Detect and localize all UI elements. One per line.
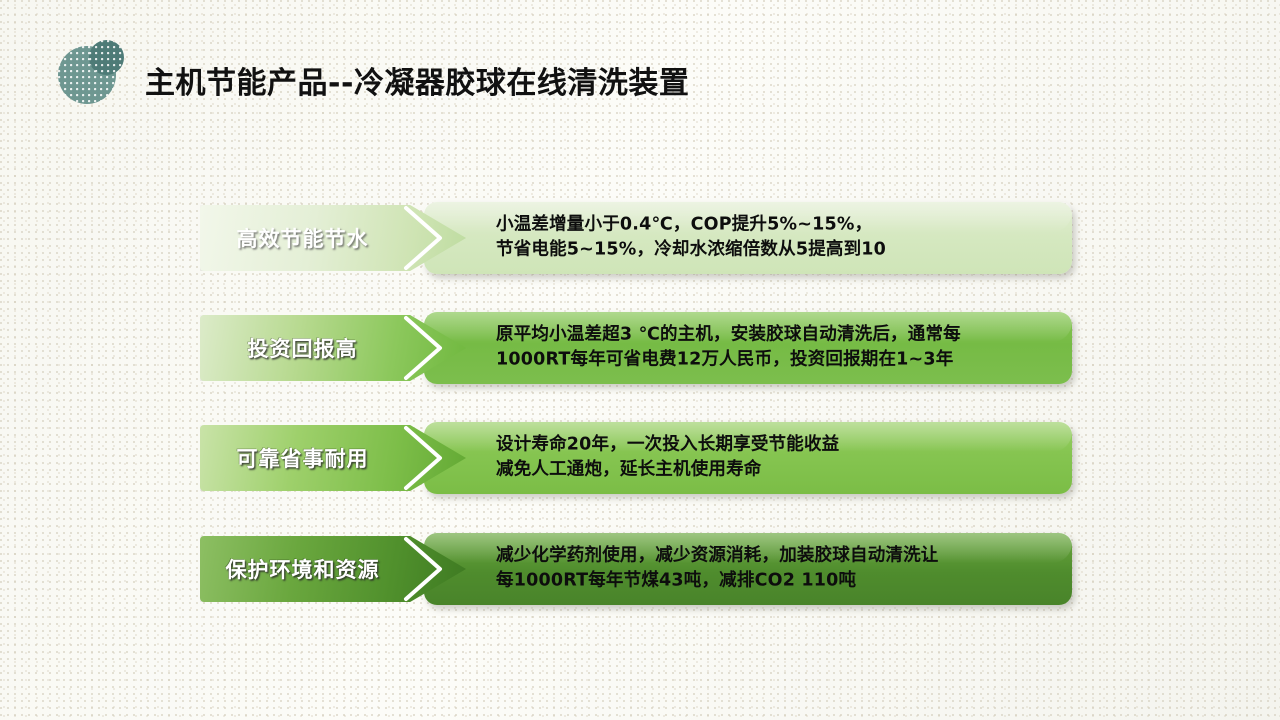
circle-small-icon [89, 40, 124, 75]
feature-label-text: 可靠省事耐用 [200, 443, 405, 473]
feature-label-arrow[interactable]: 高效节能节水 [200, 205, 466, 271]
feature-description-text: 设计寿命20年，一次投入长期享受节能收益 减免人工通炮，延长主机使用寿命 [496, 433, 1054, 484]
feature-label-text: 高效节能节水 [200, 223, 405, 253]
feature-description-bar: 减少化学药剂使用，减少资源消耗，加装胶球自动清洗让 每1000RT每年节煤43吨… [424, 533, 1072, 605]
feature-label-text: 投资回报高 [200, 333, 405, 363]
decorative-circles [58, 40, 136, 108]
feature-description-text: 减少化学药剂使用，减少资源消耗，加装胶球自动清洗让 每1000RT每年节煤43吨… [496, 544, 1054, 595]
feature-row: 小温差增量小于0.4℃，COP提升5%~15%， 节省电能5~15%，冷却水浓缩… [0, 196, 1280, 282]
feature-row: 减少化学药剂使用，减少资源消耗，加装胶球自动清洗让 每1000RT每年节煤43吨… [0, 527, 1280, 613]
slide-canvas: 主机节能产品--冷凝器胶球在线清洗装置 小温差增量小于0.4℃，COP提升5%~… [0, 0, 1280, 720]
page-title: 主机节能产品--冷凝器胶球在线清洗装置 [145, 58, 689, 102]
feature-description-text: 原平均小温差超3 ℃的主机，安装胶球自动清洗后，通常每 1000RT每年可省电费… [496, 323, 1054, 374]
feature-row: 设计寿命20年，一次投入长期享受节能收益 减免人工通炮，延长主机使用寿命 可靠省… [0, 416, 1280, 502]
feature-row: 原平均小温差超3 ℃的主机，安装胶球自动清洗后，通常每 1000RT每年可省电费… [0, 306, 1280, 392]
feature-description-bar: 小温差增量小于0.4℃，COP提升5%~15%， 节省电能5~15%，冷却水浓缩… [424, 202, 1072, 274]
feature-description-text: 小温差增量小于0.4℃，COP提升5%~15%， 节省电能5~15%，冷却水浓缩… [496, 213, 1054, 264]
feature-description-bar: 设计寿命20年，一次投入长期享受节能收益 减免人工通炮，延长主机使用寿命 [424, 422, 1072, 494]
feature-label-arrow[interactable]: 投资回报高 [200, 315, 466, 381]
feature-label-arrow[interactable]: 保护环境和资源 [200, 536, 466, 602]
feature-label-text: 保护环境和资源 [200, 554, 405, 584]
feature-description-bar: 原平均小温差超3 ℃的主机，安装胶球自动清洗后，通常每 1000RT每年可省电费… [424, 312, 1072, 384]
feature-label-arrow[interactable]: 可靠省事耐用 [200, 425, 466, 491]
slide-header: 主机节能产品--冷凝器胶球在线清洗装置 [0, 0, 1280, 140]
